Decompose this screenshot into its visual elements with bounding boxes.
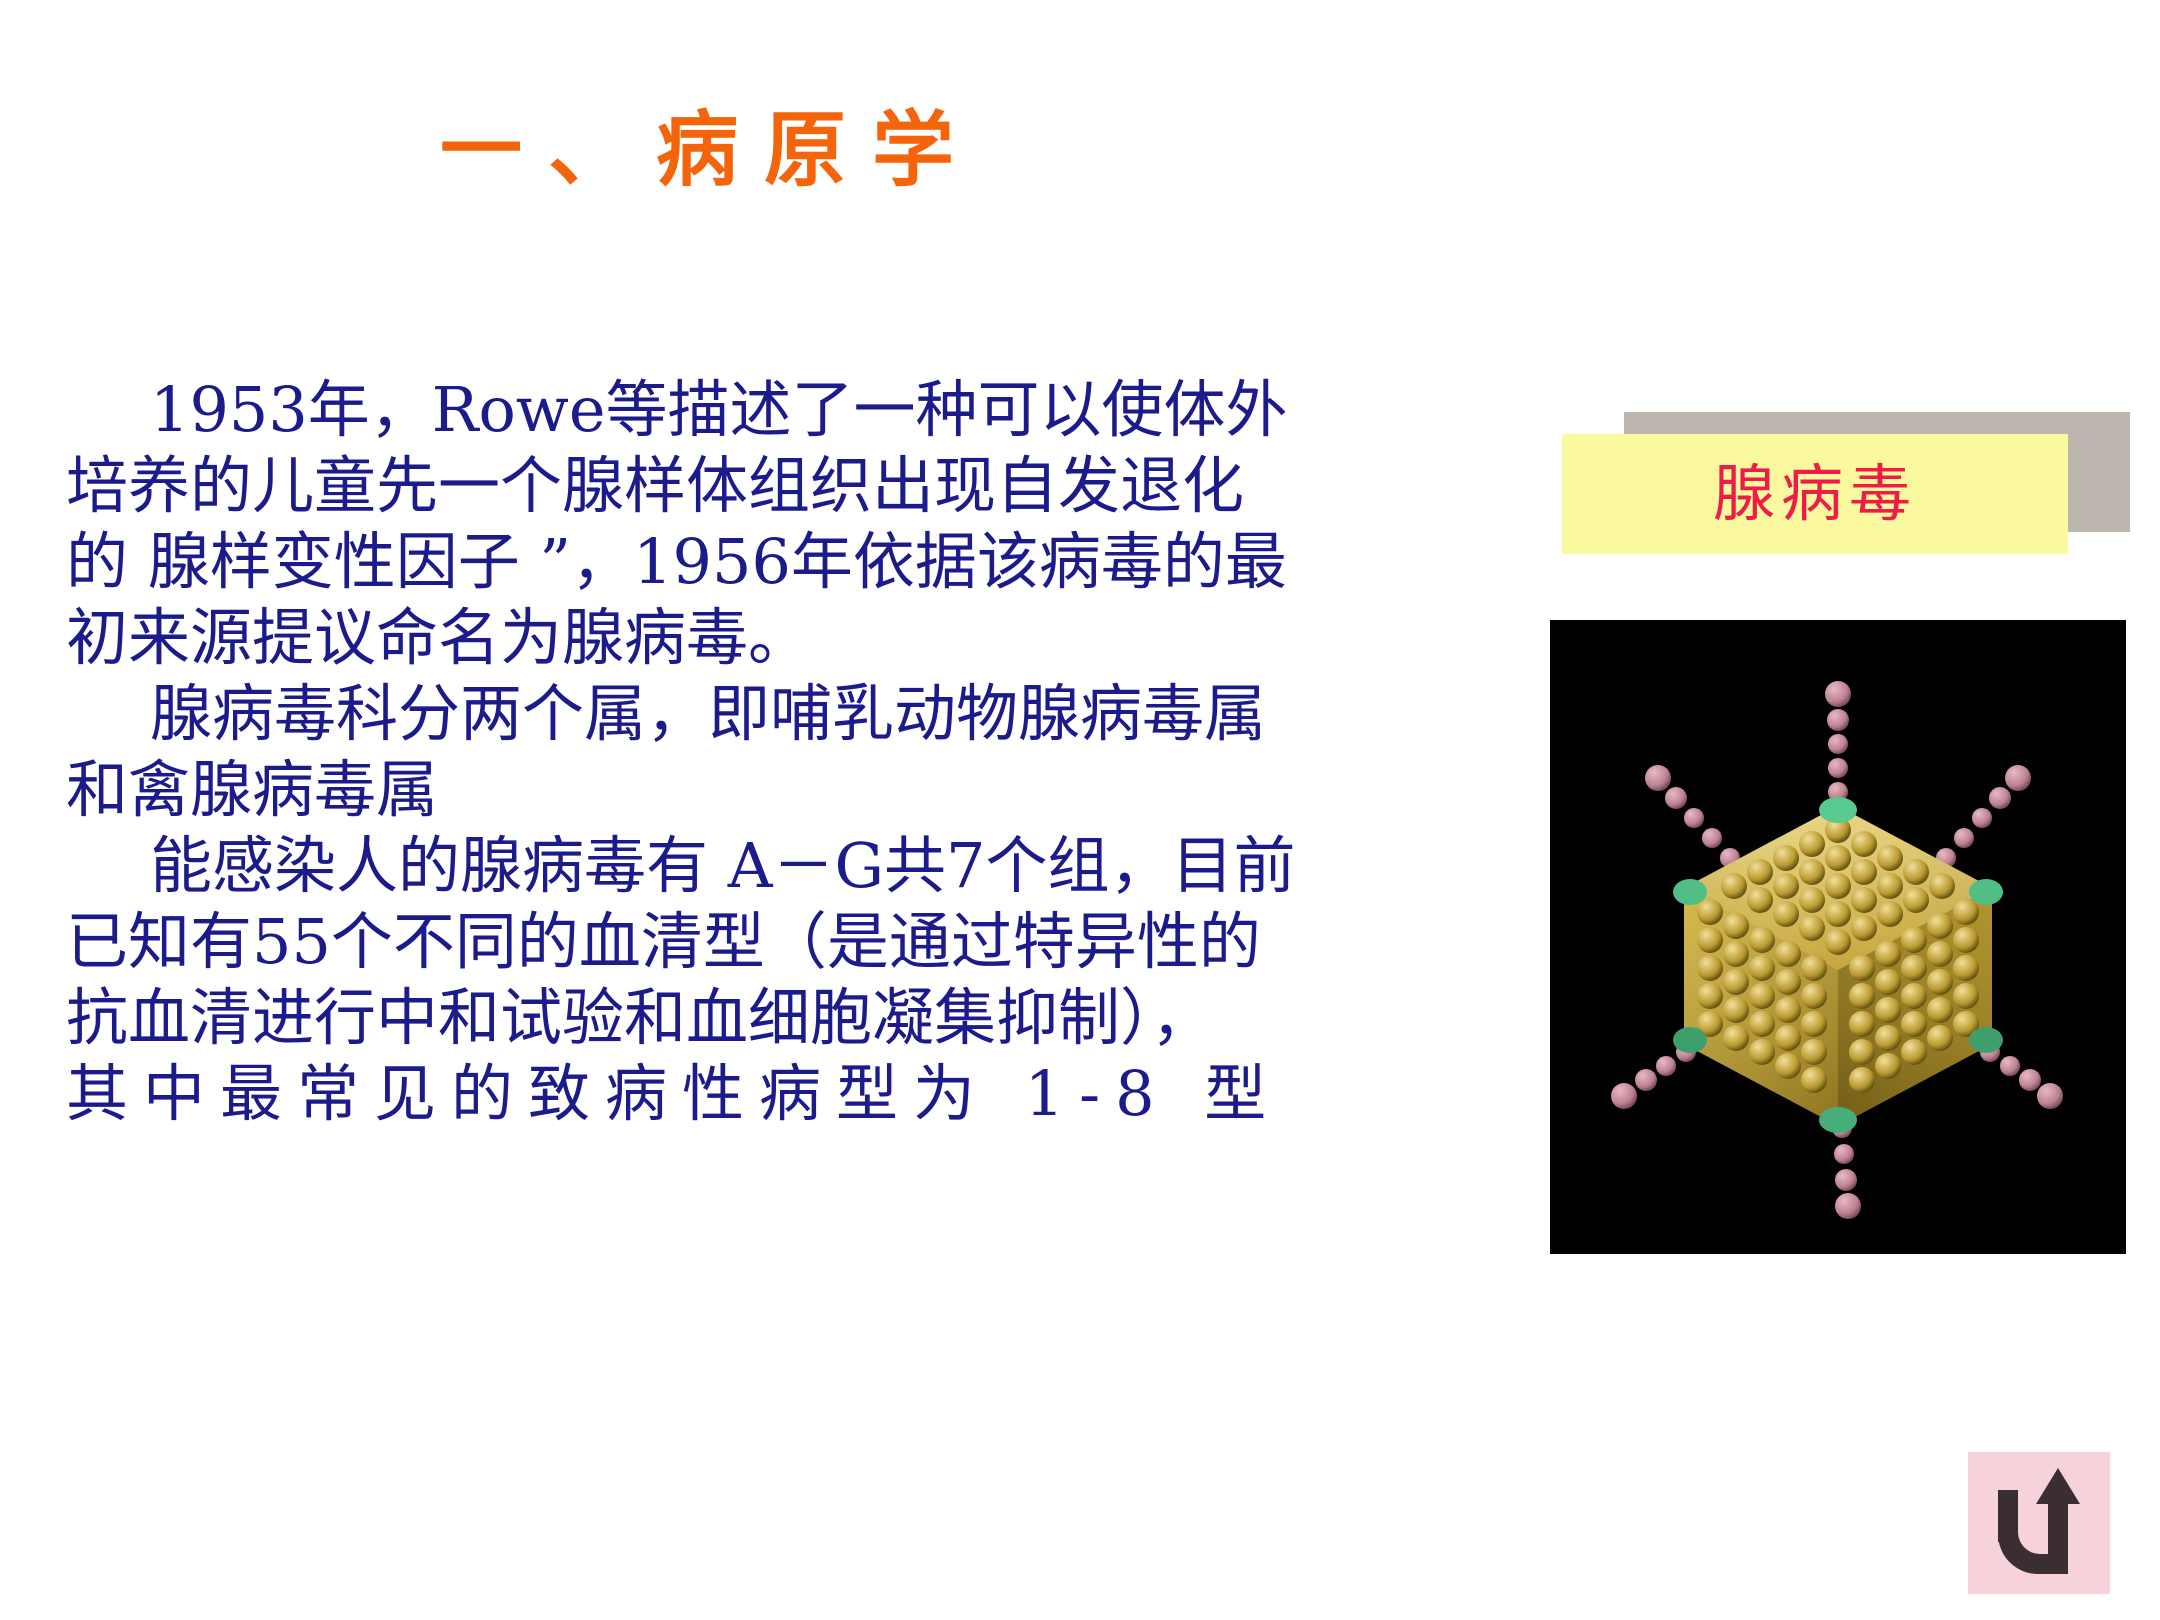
return-arrow-icon — [1968, 1452, 2110, 1594]
body-line-7: 能感染人的腺病毒有 A－G共7个组，目前 — [66, 828, 1466, 904]
return-button[interactable] — [1968, 1452, 2110, 1594]
body-line-9: 抗血清进行中和试验和血细胞凝集抑制）， — [66, 980, 1466, 1056]
caption-card: 腺病毒 — [1562, 412, 2130, 556]
caption-card-label: 腺病毒 — [1713, 463, 1917, 525]
body-line-5: 腺病毒科分两个属，即哺乳动物腺病毒属 — [66, 676, 1466, 752]
body-line-2: 培养的儿童先一个腺样体组织出现自发退化 — [66, 448, 1466, 524]
body-line-3: 的 腺样变性因子 ”，1956年依据该病毒的最 — [66, 524, 1466, 600]
adenovirus-image — [1550, 620, 2126, 1254]
body-line-text: 和禽腺病毒属 — [66, 753, 438, 826]
page-title: 一、病原学 — [440, 110, 980, 192]
body-line-4: 初来源提议命名为腺病毒。 — [66, 600, 1466, 676]
body-line-text: 1953年，Rowe等描述了一种可以使体外 — [150, 373, 1288, 446]
slide-canvas: 一、病原学 1953年，Rowe等描述了一种可以使体外 培养的儿童先一个腺样体组… — [0, 0, 2160, 1620]
caption-card-body: 腺病毒 — [1562, 434, 2068, 554]
body-line-text: 抗血清进行中和试验和血细胞凝集抑制）， — [66, 981, 1213, 1054]
body-text-block: 1953年，Rowe等描述了一种可以使体外 培养的儿童先一个腺样体组织出现自发退… — [66, 372, 1466, 1132]
body-line-1: 1953年，Rowe等描述了一种可以使体外 — [66, 372, 1466, 448]
body-line-text: 能感染人的腺病毒有 A－G共7个组，目前 — [150, 829, 1295, 902]
body-line-text: 培养的儿童先一个腺样体组织出现自发退化 — [66, 449, 1244, 522]
body-line-text: 已知有55个不同的血清型（是通过特异性的 — [66, 905, 1261, 978]
body-line-text: 初来源提议命名为腺病毒。 — [66, 601, 810, 674]
body-line-8: 已知有55个不同的血清型（是通过特异性的 — [66, 904, 1466, 980]
body-line-6: 和禽腺病毒属 — [66, 752, 1466, 828]
body-line-text: 腺病毒科分两个属，即哺乳动物腺病毒属 — [150, 677, 1266, 750]
body-line-text: 的 腺样变性因子 ”，1956年依据该病毒的最 — [66, 525, 1287, 598]
body-line-text: 其中最常见的致病性病型为 1-8 型 — [66, 1057, 1281, 1130]
body-line-10: 其中最常见的致病性病型为 1-8 型 — [66, 1056, 1466, 1132]
